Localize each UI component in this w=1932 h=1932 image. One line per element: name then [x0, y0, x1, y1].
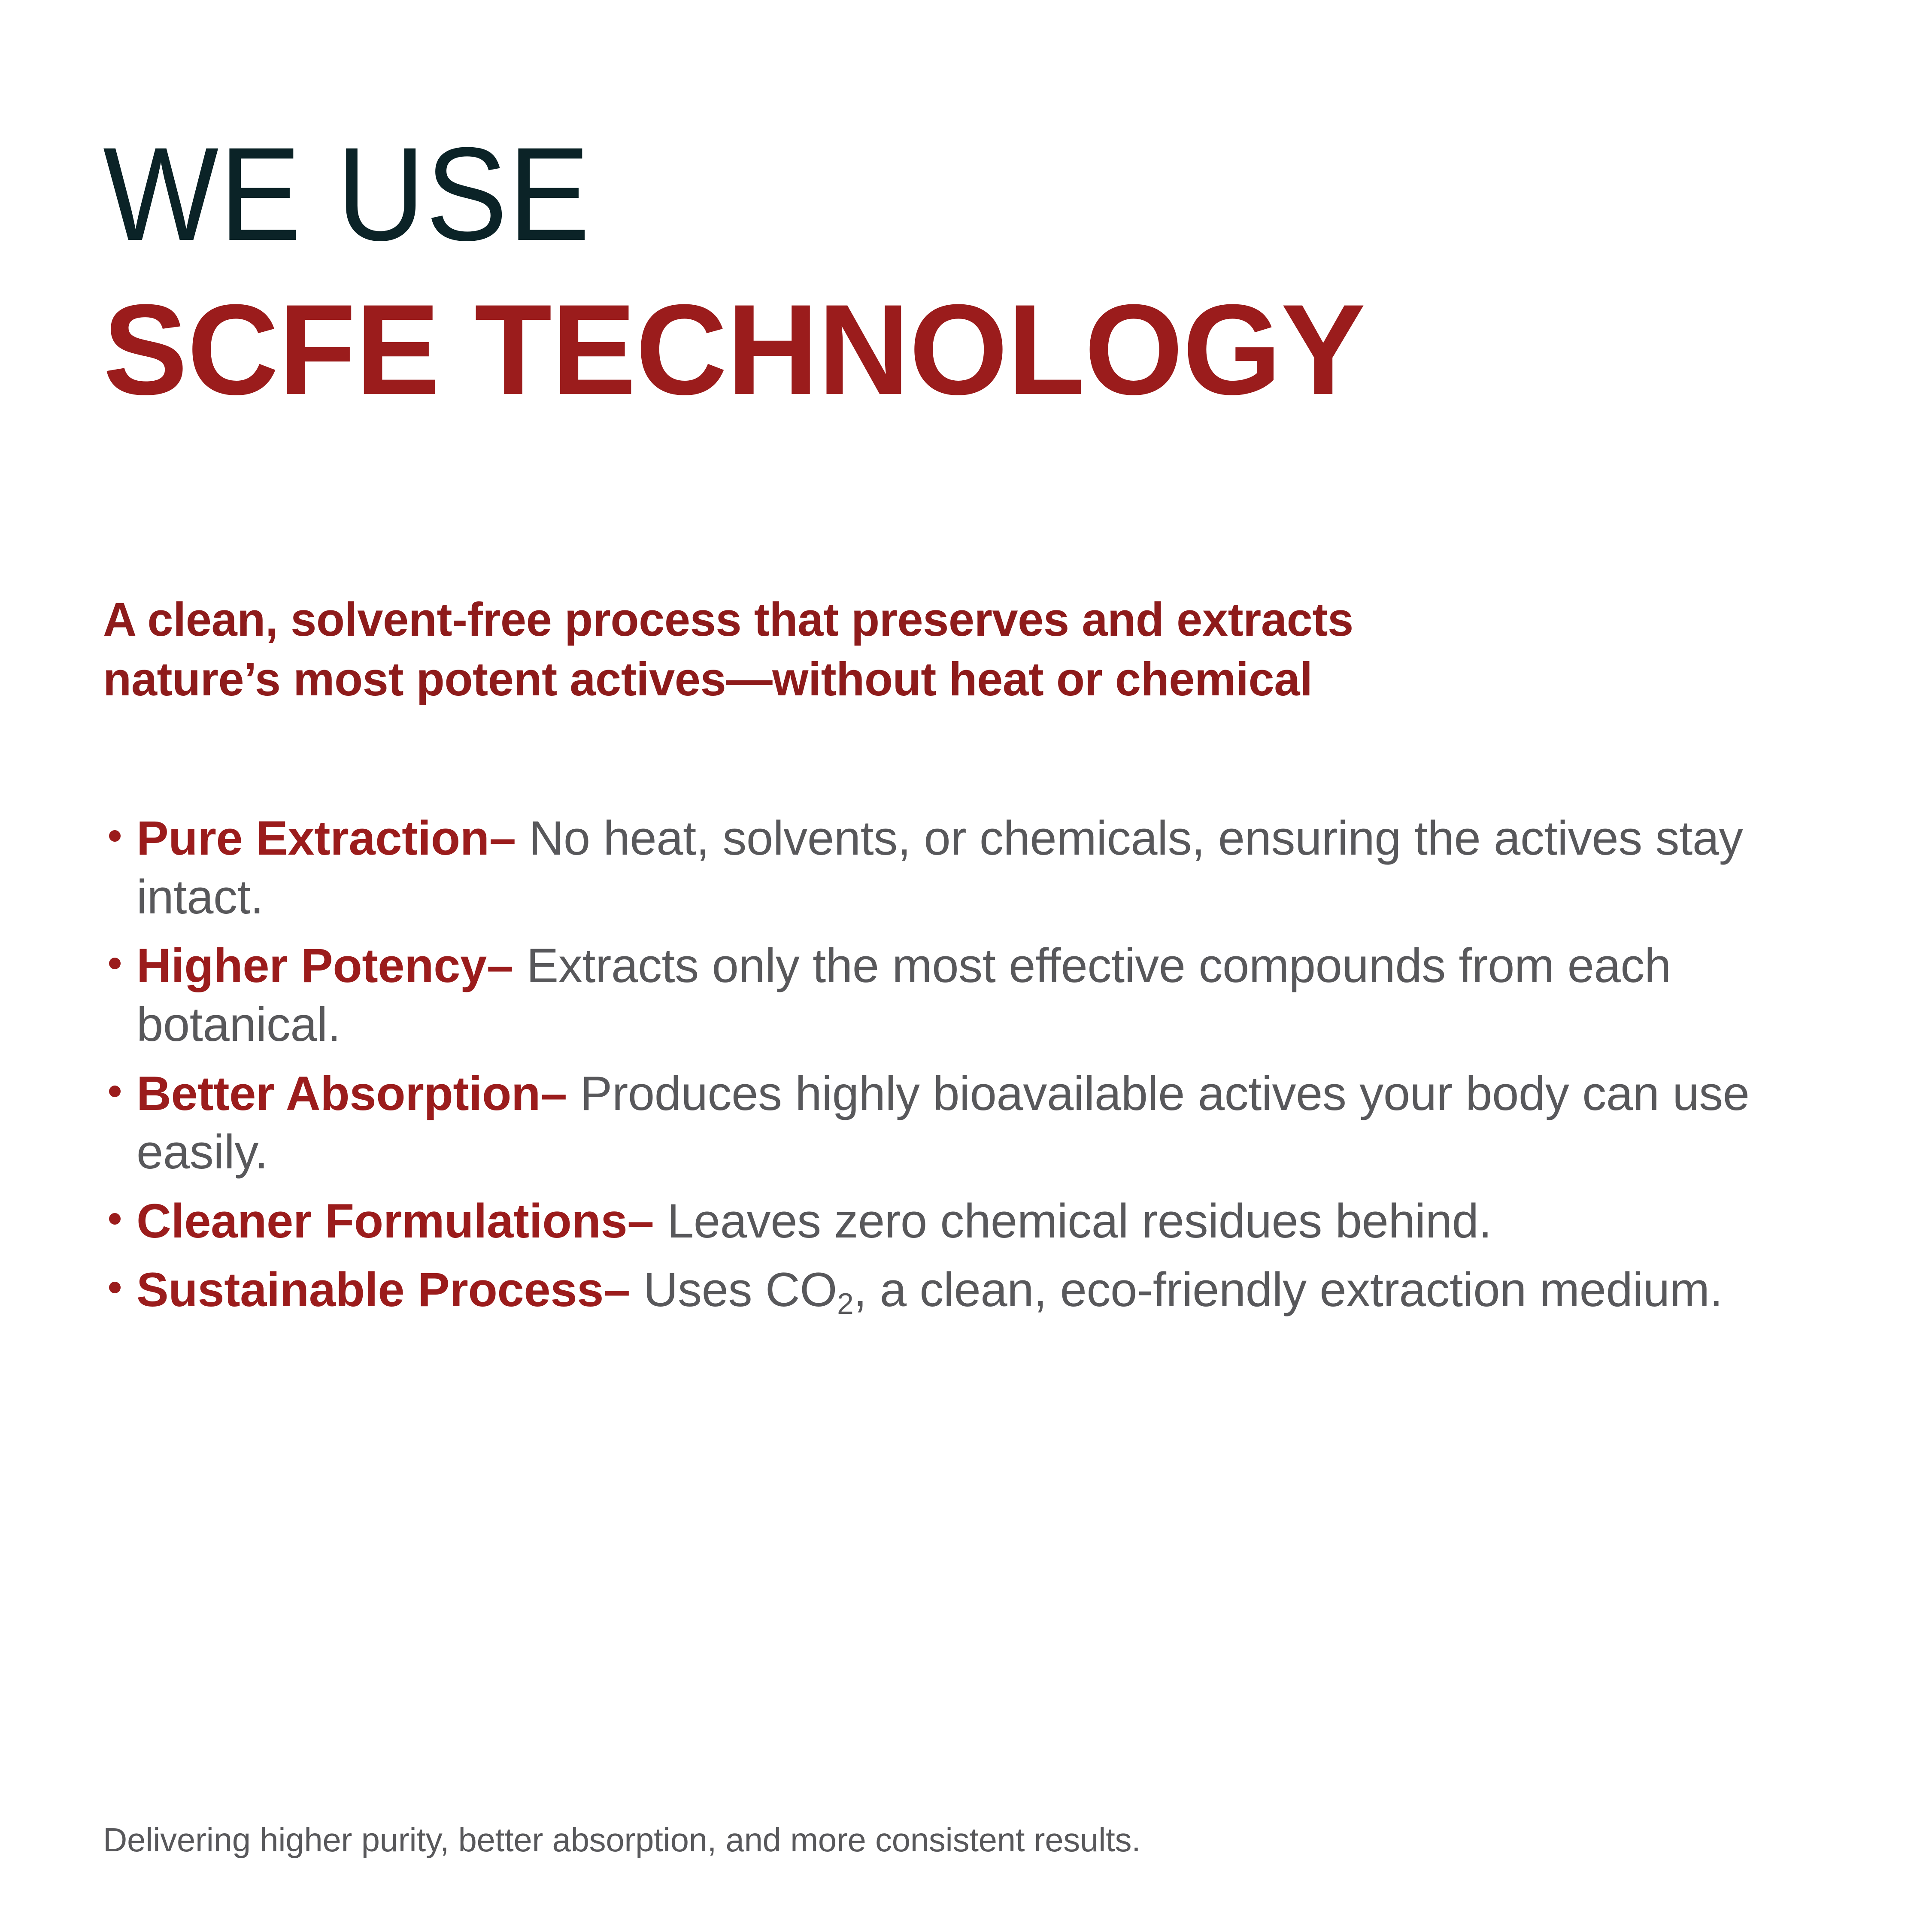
benefits-list: Pure Extraction– No heat, solvents, or c…: [103, 809, 1846, 1319]
list-item: Cleaner Formulations– Leaves zero chemic…: [103, 1192, 1846, 1251]
bullet-dot-icon: [109, 1282, 121, 1293]
subheading-line-1: A clean, solvent-free process that prese…: [103, 590, 1803, 650]
list-item: Better Absorption– Produces highly bioav…: [103, 1065, 1846, 1182]
list-item: Pure Extraction– No heat, solvents, or c…: [103, 809, 1846, 926]
bullet-dash: –: [604, 1263, 630, 1316]
bullet-dash: –: [487, 939, 513, 992]
headline-kicker: WE USE: [103, 129, 1714, 259]
subheading: A clean, solvent-free process that prese…: [103, 590, 1829, 709]
promo-poster: WE USE SCFE TECHNOLOGY A clean, solvent-…: [0, 0, 1932, 1932]
footer-tagline: Delivering higher purity, better absorpt…: [103, 1820, 1829, 1860]
bullet-label: Pure Extraction: [136, 811, 489, 865]
bullet-body-pre: Uses CO: [643, 1263, 837, 1316]
bullet-dot-icon: [109, 1213, 121, 1225]
bullet-label: Sustainable Process: [136, 1263, 604, 1316]
bullet-label: Better Absorption: [136, 1067, 540, 1120]
headline-block: WE USE SCFE TECHNOLOGY: [103, 129, 1854, 414]
bullet-dash: –: [627, 1194, 654, 1248]
bullet-label: Cleaner Formulations: [136, 1194, 627, 1248]
subheading-line-2: nature’s most potent actives—without hea…: [103, 650, 1803, 710]
headline-title: SCFE TECHNOLOGY: [103, 285, 1828, 414]
bullet-dot-icon: [109, 830, 121, 842]
list-item: Sustainable Process– Uses CO2, a clean, …: [103, 1261, 1846, 1319]
bullet-body: Uses CO2, a clean, eco-friendly extracti…: [643, 1263, 1723, 1316]
list-item: Higher Potency– Extracts only the most e…: [103, 937, 1846, 1054]
bullet-body: Leaves zero chemical residues behind.: [667, 1194, 1492, 1248]
bullet-body-subscript: 2: [837, 1287, 853, 1320]
bullet-dash: –: [540, 1067, 567, 1120]
bullet-dot-icon: [109, 958, 121, 969]
bullet-dash: –: [489, 811, 516, 865]
bullet-label: Higher Potency: [136, 939, 487, 992]
bullet-dot-icon: [109, 1086, 121, 1097]
bullet-body-post: , a clean, eco-friendly extraction mediu…: [853, 1263, 1723, 1316]
